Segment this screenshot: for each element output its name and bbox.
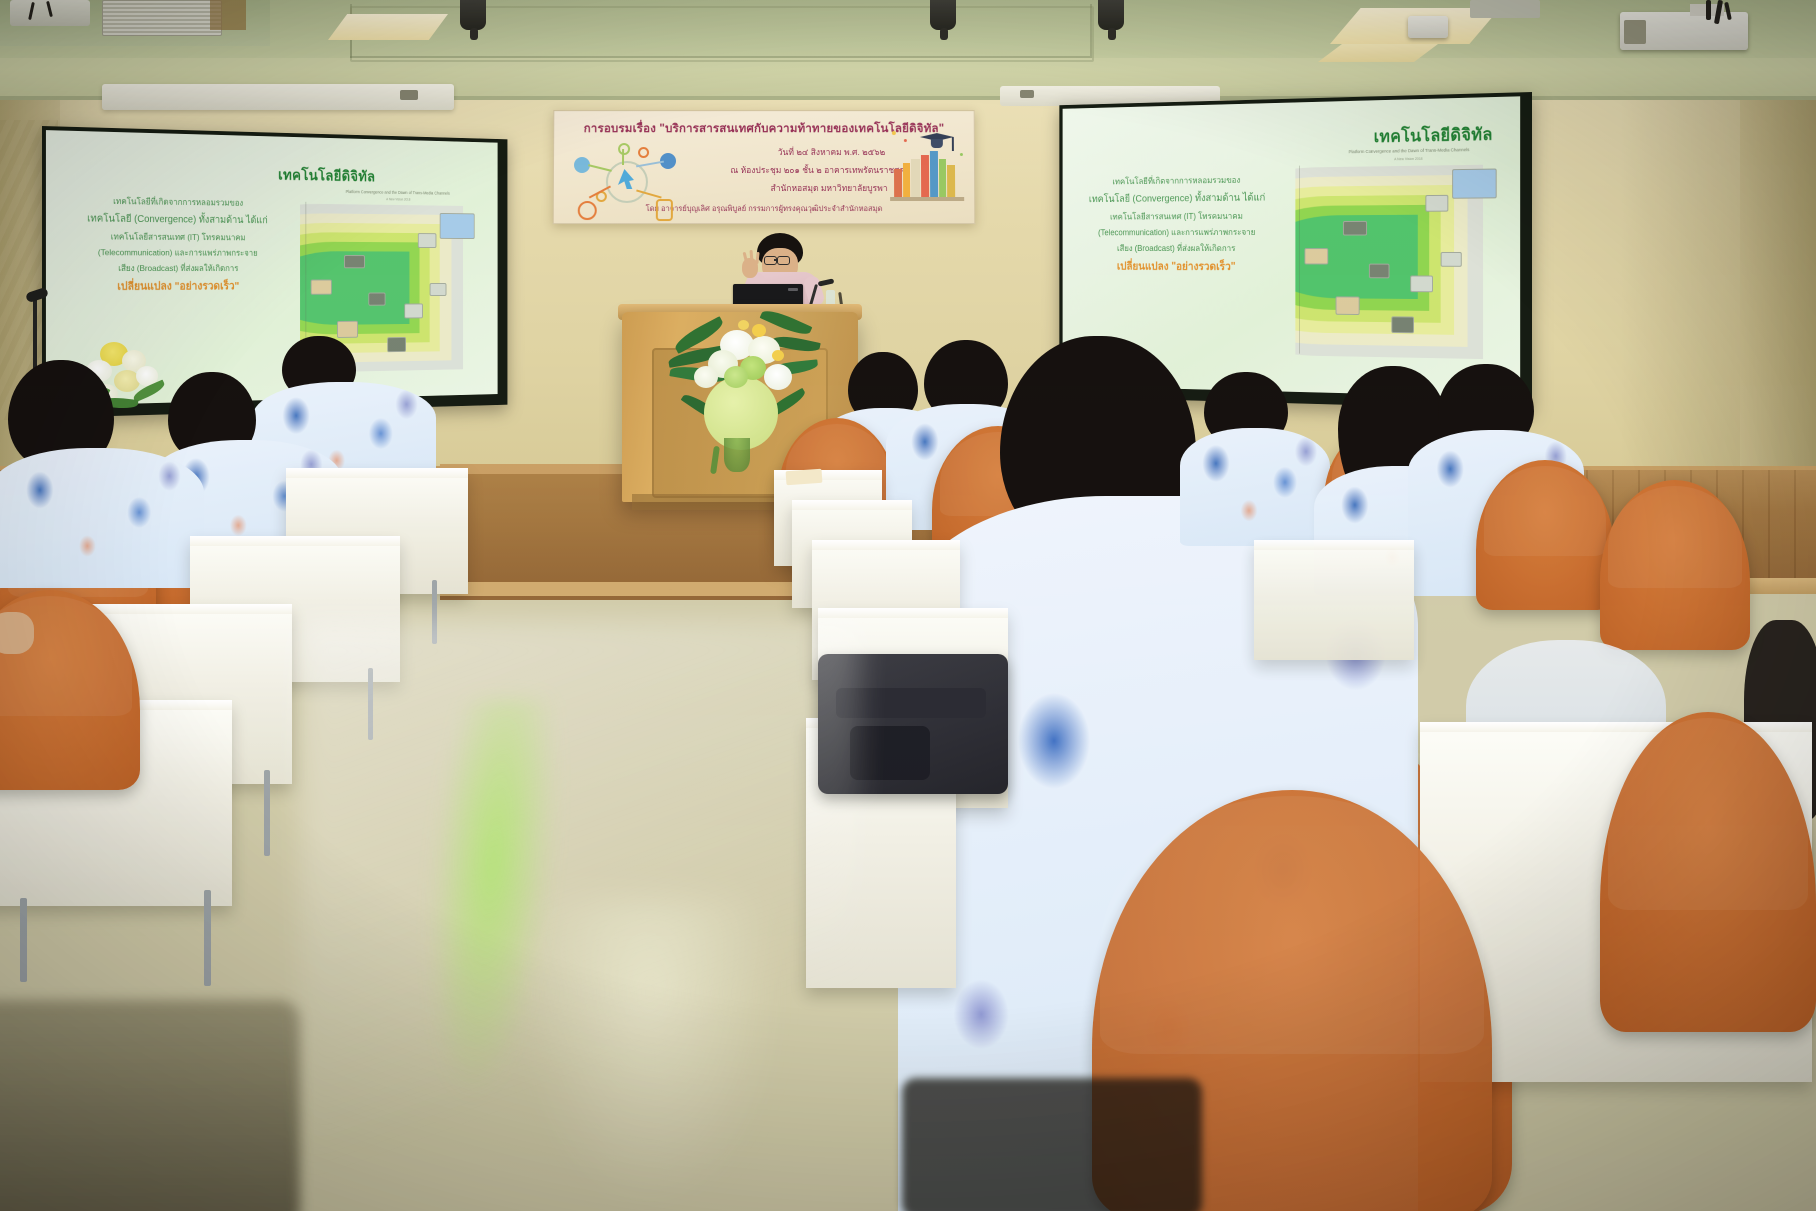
slide-body-line1: เทคโนโลยีที่เกิดจากการหลอมรวมของ xyxy=(1069,174,1286,189)
foreground-shadow xyxy=(902,1078,1202,1211)
floor-light-reflection xyxy=(520,900,780,1210)
ceiling-speaker xyxy=(930,0,956,30)
ceiling-projector-left xyxy=(1408,16,1448,38)
foreground-shadow xyxy=(0,1000,300,1211)
ac-vent xyxy=(400,90,418,100)
slide-body-line2: เทคโนโลยี (Convergence) ทั้งสามด้าน ได้แ… xyxy=(56,212,297,229)
eyeglasses-bridge xyxy=(774,259,778,261)
ceiling-speaker xyxy=(460,0,486,30)
laptop-logo xyxy=(788,288,798,291)
slide-title: เทคโนโลยีดิจิทัล xyxy=(278,163,375,188)
paper-notes xyxy=(786,469,823,485)
table-leg xyxy=(264,770,270,856)
ceiling-speaker-mount xyxy=(940,28,948,40)
ceiling-speaker-mount xyxy=(1108,28,1116,40)
slide-body-line2: เทคโนโลยี (Convergence) ทั้งสามด้าน ได้แ… xyxy=(1066,191,1290,207)
projector-lens xyxy=(1624,20,1646,44)
cable xyxy=(1706,0,1711,20)
slide-body-line6: เปลี่ยนแปลง "อย่างรวดเร็ว" xyxy=(60,280,293,296)
conference-room-photo: เทคโนโลยีดิจิทัล เทคโนโลยีที่เกิดจากการห… xyxy=(0,0,1816,1211)
ceiling-opening xyxy=(210,0,246,30)
table-leg xyxy=(20,898,27,982)
ceiling-light xyxy=(328,14,448,40)
slide-body-line5: เสียง (Broadcast) ที่ส่งผลให้เกิดการ xyxy=(1069,242,1286,254)
ceiling-vent-grill xyxy=(102,0,222,36)
diagram-subcaption: A New Vision 2018 xyxy=(1317,155,1502,162)
ceiling-speaker-mount xyxy=(470,28,478,40)
diagram-caption: Platform Convergence and the Dawn of Tra… xyxy=(1317,147,1502,155)
slide-diagram: Platform Convergence and the Dawn of Tra… xyxy=(1295,146,1518,369)
table xyxy=(1254,540,1414,660)
eyeglasses-icon xyxy=(777,256,790,265)
slide-body-line6: เปลี่ยนแปลง "อย่างรวดเร็ว" xyxy=(1069,259,1286,275)
diagram-caption: Platform Convergence and the Dawn of Tra… xyxy=(316,189,478,196)
table-leg xyxy=(204,890,211,986)
books-graduation-icon xyxy=(890,129,968,207)
slide-body-line4: (Telecommunication) และการแพร่ภาพกระจาย xyxy=(1066,226,1290,239)
ceiling-speaker xyxy=(1098,0,1124,30)
ceiling-line xyxy=(350,56,1090,58)
slide-body-line3: เทคโนโลยีสารสนเทศ (IT) โทรคมนาคม xyxy=(60,230,293,244)
ceiling-track xyxy=(1470,0,1540,18)
ac-vent xyxy=(1020,90,1034,98)
chair xyxy=(1600,712,1816,1032)
slide-body-line1: เทคโนโลยีที่เกิดจากการหลอมรวมของ xyxy=(60,194,293,209)
slide-body-line3: เทคโนโลยีสารสนเทศ (IT) โทรคมนาคม xyxy=(1069,210,1286,224)
diagram-subcaption: A New Vision 2018 xyxy=(316,196,478,202)
ceiling-line xyxy=(1090,4,1092,58)
digital-network-icon xyxy=(574,143,684,215)
audience-hand xyxy=(0,612,34,654)
slide-title: เทคโนโลยีดิจิทัล xyxy=(1374,121,1493,150)
event-banner: การอบรมเรื่อง "บริการสารสนเทศกับความท้าท… xyxy=(553,110,976,224)
slide-body-line5: เสียง (Broadcast) ที่ส่งผลให้เกิดการ xyxy=(60,262,293,274)
backpack-pocket xyxy=(850,726,930,780)
slide-body-line4: (Telecommunication) และการแพร่ภาพกระจาย xyxy=(56,246,297,259)
